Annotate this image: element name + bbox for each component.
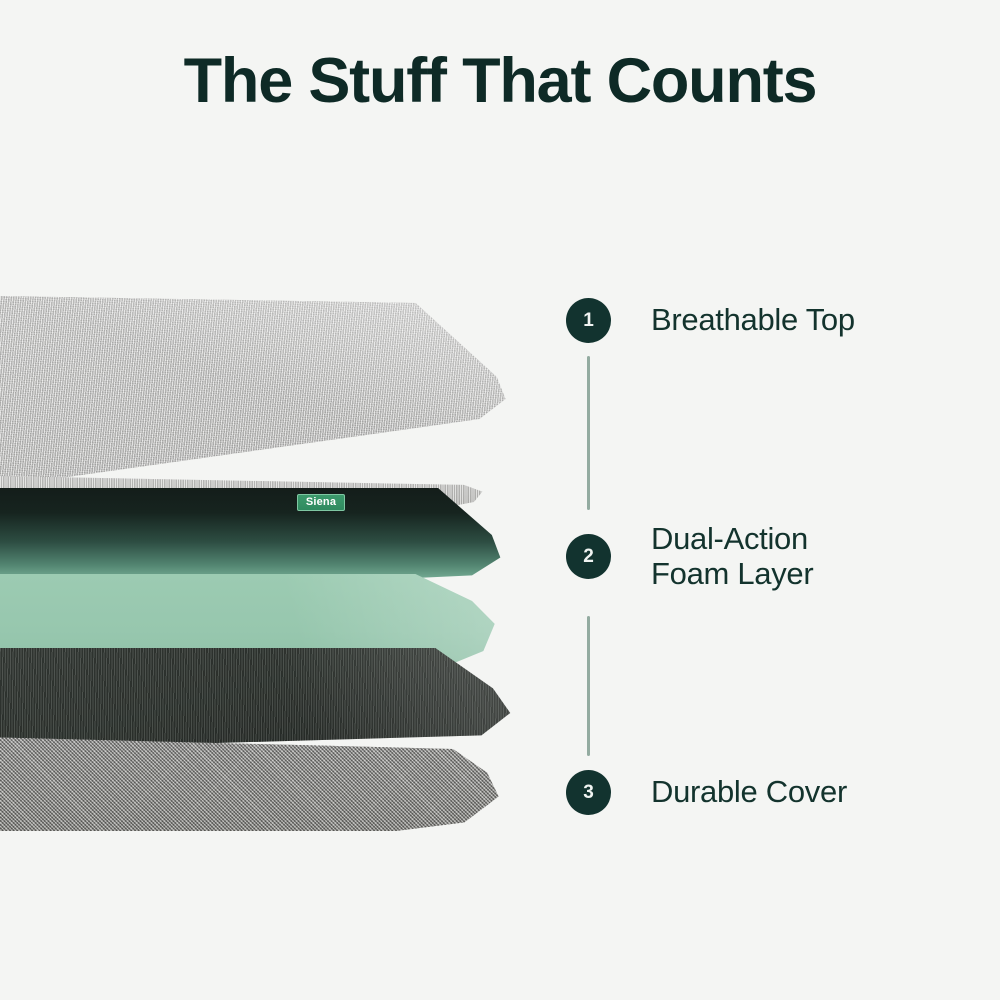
siena-brand-tag: Siena	[297, 494, 345, 511]
mattress-illustration	[0, 260, 560, 880]
feature-label-3: Durable Cover	[651, 775, 847, 810]
page-title: The Stuff That Counts	[0, 47, 1000, 115]
feature-label-1: Breathable Top	[651, 303, 855, 338]
feature-label-2: Dual-Action Foam Layer	[651, 522, 813, 591]
feature-item-foam-layer: 2 Dual-Action Foam Layer	[566, 522, 813, 591]
connector-line-2-3	[587, 616, 590, 756]
feature-badge-1: 1	[566, 298, 611, 343]
connector-line-1-2	[587, 356, 590, 510]
feature-item-breathable-top: 1 Breathable Top	[566, 298, 855, 343]
base-layer-edge	[0, 736, 510, 844]
mattress-layer-durable-cover	[0, 648, 520, 858]
feature-item-durable-cover: 3 Durable Cover	[566, 770, 847, 815]
feature-badge-2: 2	[566, 534, 611, 579]
feature-badge-3: 3	[566, 770, 611, 815]
top-layer-surface	[0, 295, 520, 495]
